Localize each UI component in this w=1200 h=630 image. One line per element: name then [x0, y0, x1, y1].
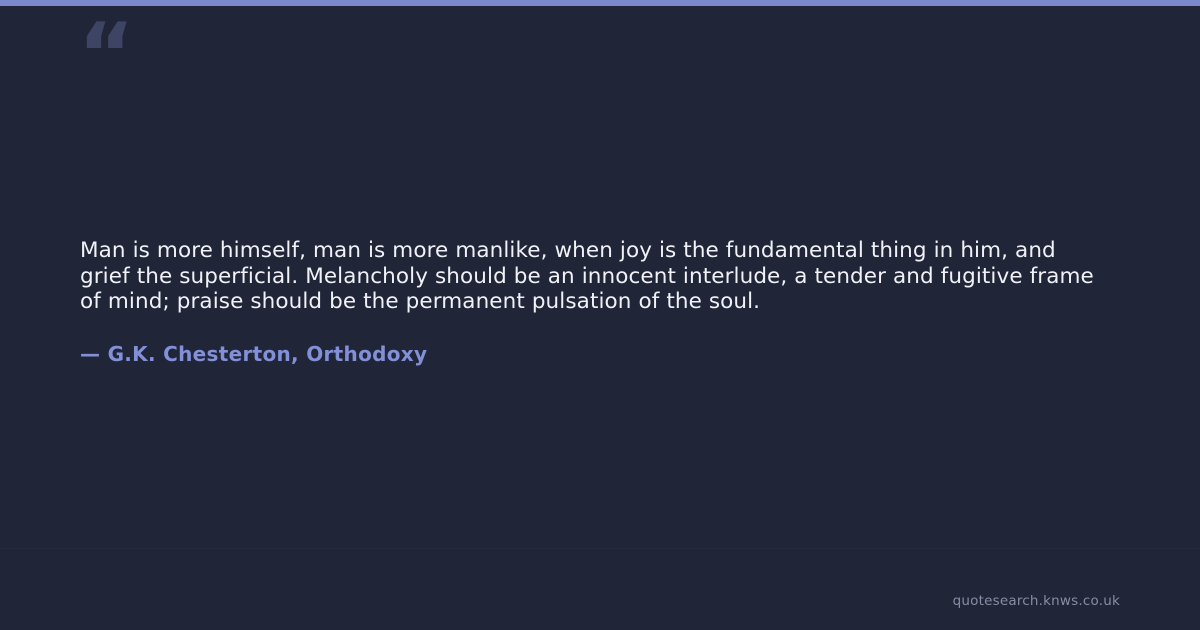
- source-site-label: quotesearch.knws.co.uk: [953, 592, 1120, 610]
- quote-card: “ Man is more himself, man is more manli…: [0, 0, 1200, 630]
- quote-mark-icon: “: [78, 12, 133, 98]
- quote-text: Man is more himself, man is more manlike…: [80, 238, 1102, 315]
- quote-attribution: — G.K. Chesterton, Orthodoxy: [80, 341, 427, 367]
- footer-divider: [0, 548, 1200, 549]
- top-accent-bar: [0, 0, 1200, 6]
